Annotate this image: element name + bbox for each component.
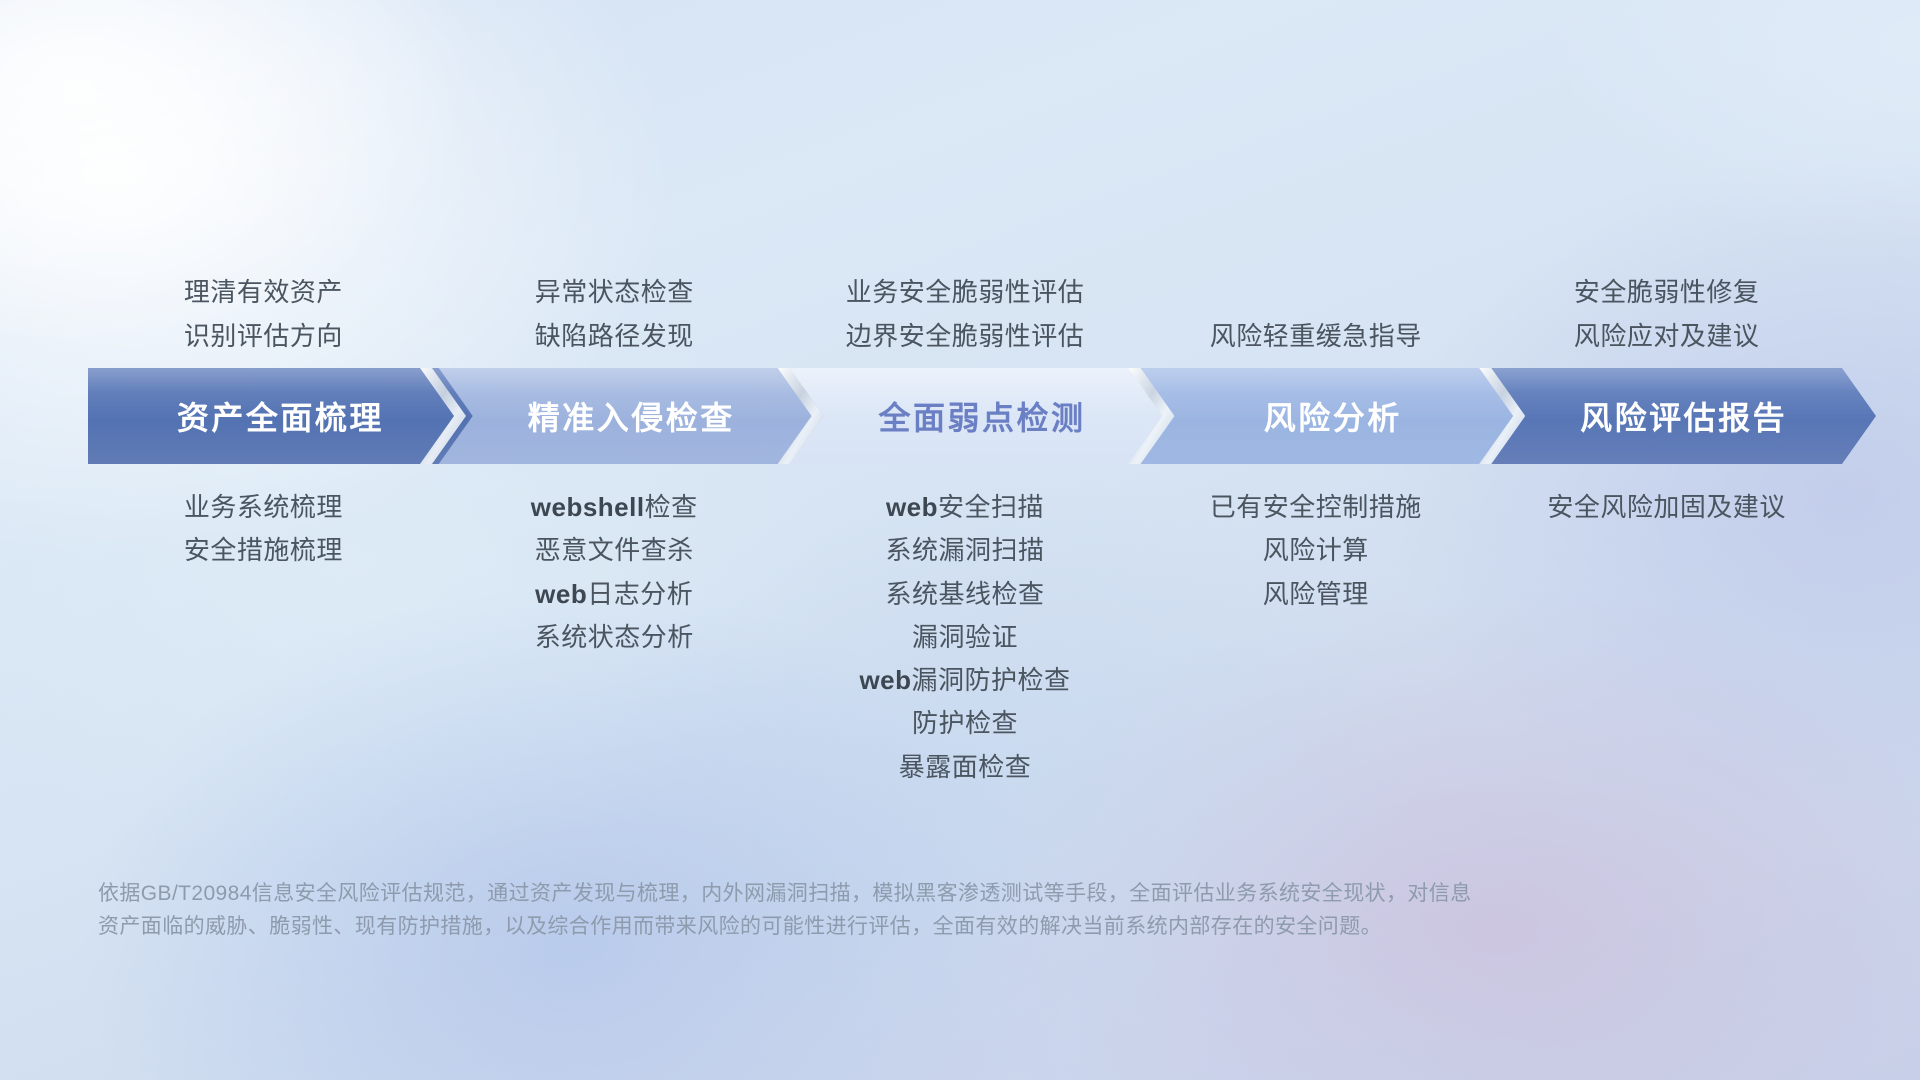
- bottom-item-text: 漏洞防护检查: [912, 665, 1071, 695]
- footer-line-2: 资产面临的威胁、脆弱性、现有防护措施，以及综合作用而带来风险的可能性进行评估，全…: [98, 911, 1770, 944]
- bottom-item-text: 防护检查: [912, 708, 1018, 738]
- chevron-stage-1[interactable]: 资产全面梳理: [88, 368, 473, 464]
- bottom-column-3: web安全扫描系统漏洞扫描系统基线检查漏洞验证web漏洞防护检查防护检查暴露面检…: [790, 490, 1141, 820]
- chevron-label: 精准入侵检查: [528, 393, 735, 439]
- top-column-4: 风险轻重缓急指导: [1140, 228, 1491, 350]
- process-chevron-banner: 资产全面梳理精准入侵检查全面弱点检测风险分析风险评估报告: [88, 368, 1842, 464]
- bottom-item-text: 检查: [645, 492, 698, 522]
- chevron-stage-2[interactable]: 精准入侵检查: [439, 368, 824, 464]
- bottom-item-text: 风险管理: [1263, 579, 1369, 609]
- chevron-stage-3[interactable]: 全面弱点检测: [790, 368, 1175, 464]
- bottom-item-latin: webshell: [531, 492, 645, 522]
- top-column-2: 异常状态检查缺陷路径发现: [439, 228, 790, 350]
- bottom-item-text: 安全扫描: [938, 492, 1044, 522]
- top-text-band: 理清有效资产识别评估方向异常状态检查缺陷路径发现业务安全脆弱性评估边界安全脆弱性…: [88, 228, 1842, 350]
- bottom-item: 恶意文件查杀: [535, 537, 694, 564]
- top-item-list: 安全脆弱性修复风险应对及建议: [1491, 279, 1842, 350]
- bottom-item: 风险管理: [1263, 581, 1369, 608]
- bottom-item-text: 恶意文件查杀: [535, 535, 694, 565]
- top-item: 缺陷路径发现: [535, 323, 694, 350]
- bottom-column-1: 业务系统梳理安全措施梳理: [88, 490, 439, 820]
- bottom-item-latin: web: [859, 665, 911, 695]
- top-item: 风险轻重缓急指导: [1210, 323, 1422, 350]
- bottom-item: web漏洞防护检查: [859, 667, 1070, 694]
- bottom-item-text: 系统状态分析: [535, 622, 694, 652]
- top-item: 风险应对及建议: [1574, 323, 1760, 350]
- bottom-item-text: 系统基线检查: [885, 579, 1044, 609]
- top-item-list: 风险轻重缓急指导: [1140, 323, 1491, 350]
- bottom-item-list: web安全扫描系统漏洞扫描系统基线检查漏洞验证web漏洞防护检查防护检查暴露面检…: [790, 490, 1141, 781]
- top-item: 异常状态检查: [535, 279, 694, 306]
- bottom-item: web日志分析: [535, 581, 693, 608]
- top-item: 识别评估方向: [184, 323, 343, 350]
- top-item: 理清有效资产: [184, 279, 343, 306]
- bottom-item-text: 业务系统梳理: [184, 492, 343, 522]
- bottom-item-text: 安全措施梳理: [184, 535, 343, 565]
- footer-line-1: 依据GB/T20984信息安全风险评估规范，通过资产发现与梳理，内外网漏洞扫描，…: [98, 878, 1770, 911]
- top-item-list: 异常状态检查缺陷路径发现: [439, 279, 790, 350]
- footer-description: 依据GB/T20984信息安全风险评估规范，通过资产发现与梳理，内外网漏洞扫描，…: [98, 878, 1770, 943]
- bottom-item-latin: web: [535, 579, 587, 609]
- top-item: 安全脆弱性修复: [1574, 279, 1760, 306]
- top-item: 边界安全脆弱性评估: [846, 323, 1085, 350]
- bottom-item-list: 安全风险加固及建议: [1491, 490, 1842, 521]
- top-column-3: 业务安全脆弱性评估边界安全脆弱性评估: [790, 228, 1141, 350]
- bottom-item: 已有安全控制措施: [1210, 494, 1422, 521]
- chevron-label: 风险分析: [1264, 393, 1402, 439]
- bottom-item: web安全扫描: [886, 494, 1044, 521]
- bottom-text-band: 业务系统梳理安全措施梳理webshell检查恶意文件查杀web日志分析系统状态分…: [88, 490, 1842, 820]
- bottom-item: 安全风险加固及建议: [1547, 494, 1786, 521]
- bottom-column-4: 已有安全控制措施风险计算风险管理: [1140, 490, 1491, 820]
- bottom-item: 系统状态分析: [535, 624, 694, 651]
- bottom-item: 系统基线检查: [885, 581, 1044, 608]
- bottom-column-2: webshell检查恶意文件查杀web日志分析系统状态分析: [439, 490, 790, 820]
- bottom-item-text: 系统漏洞扫描: [885, 535, 1044, 565]
- bottom-item-list: 已有安全控制措施风险计算风险管理: [1140, 490, 1491, 608]
- chevron-stage-5[interactable]: 风险评估报告: [1491, 368, 1876, 464]
- bottom-item: 漏洞验证: [912, 624, 1018, 651]
- bottom-item-list: webshell检查恶意文件查杀web日志分析系统状态分析: [439, 490, 790, 651]
- bottom-item-text: 日志分析: [587, 579, 693, 609]
- chevron-label: 风险评估报告: [1580, 393, 1787, 439]
- top-column-1: 理清有效资产识别评估方向: [88, 228, 439, 350]
- top-item: 业务安全脆弱性评估: [846, 279, 1085, 306]
- bottom-item-text: 漏洞验证: [912, 622, 1018, 652]
- top-item-list: 理清有效资产识别评估方向: [88, 279, 439, 350]
- chevron-label: 全面弱点检测: [878, 393, 1085, 439]
- bottom-item: 安全措施梳理: [184, 537, 343, 564]
- bottom-item-latin: web: [886, 492, 938, 522]
- bottom-item: 风险计算: [1263, 537, 1369, 564]
- chevron-stage-4[interactable]: 风险分析: [1140, 368, 1525, 464]
- bottom-item-list: 业务系统梳理安全措施梳理: [88, 490, 439, 565]
- bottom-item: 防护检查: [912, 710, 1018, 737]
- bottom-item: 业务系统梳理: [184, 494, 343, 521]
- chevron-label: 资产全面梳理: [177, 393, 384, 439]
- top-item-list: 业务安全脆弱性评估边界安全脆弱性评估: [790, 279, 1141, 350]
- bottom-item: 暴露面检查: [899, 754, 1032, 781]
- bottom-item-text: 安全风险加固及建议: [1547, 492, 1786, 522]
- bottom-item-text: 已有安全控制措施: [1210, 492, 1422, 522]
- bottom-item-text: 暴露面检查: [899, 752, 1032, 782]
- bottom-item: 系统漏洞扫描: [885, 537, 1044, 564]
- bottom-column-5: 安全风险加固及建议: [1491, 490, 1842, 820]
- top-column-5: 安全脆弱性修复风险应对及建议: [1491, 228, 1842, 350]
- bottom-item-text: 风险计算: [1263, 535, 1369, 565]
- bottom-item: webshell检查: [531, 494, 698, 521]
- infographic-root: 理清有效资产识别评估方向异常状态检查缺陷路径发现业务安全脆弱性评估边界安全脆弱性…: [0, 0, 1920, 1080]
